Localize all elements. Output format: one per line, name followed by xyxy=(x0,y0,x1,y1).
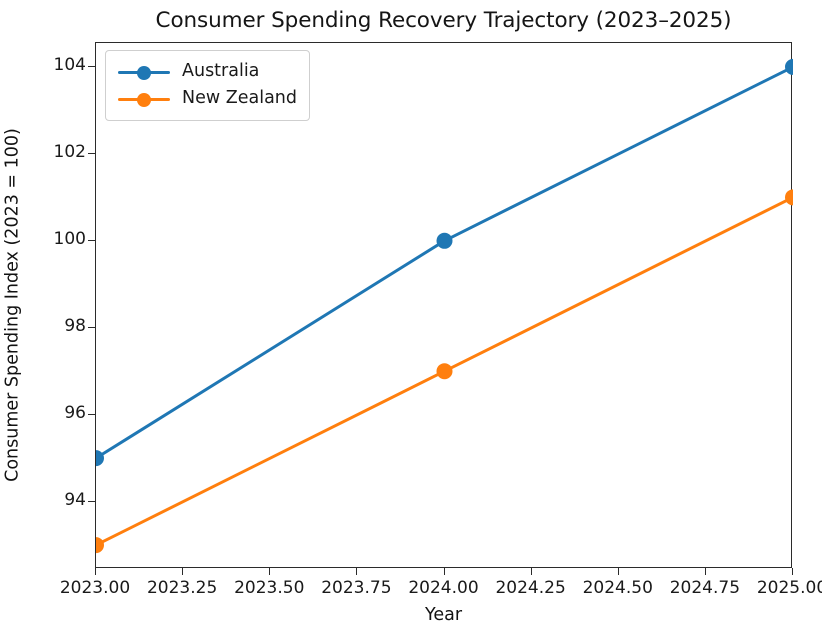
x-axis-tick-mark xyxy=(95,568,96,575)
y-axis-tick-label: 104 xyxy=(2,57,86,74)
data-point-marker xyxy=(785,189,793,205)
x-axis-tick-mark xyxy=(531,568,532,575)
legend-marker-icon xyxy=(137,66,151,80)
x-axis-tick-mark xyxy=(705,568,706,575)
legend-label: Australia xyxy=(182,61,259,82)
x-axis-tick-mark xyxy=(444,568,445,575)
legend-swatch xyxy=(116,62,172,82)
y-axis-tick-mark xyxy=(88,414,95,415)
data-point-marker xyxy=(437,233,453,249)
legend-item[interactable]: Australia xyxy=(116,58,297,85)
y-axis-tick-mark xyxy=(88,66,95,67)
y-axis-tick-mark xyxy=(88,327,95,328)
x-axis-tick-mark xyxy=(792,568,793,575)
legend-swatch xyxy=(116,89,172,109)
x-axis-label: Year xyxy=(95,605,792,626)
y-axis-tick-label: 100 xyxy=(2,231,86,248)
data-point-marker xyxy=(785,59,793,75)
y-axis-label-container: Consumer Spending Index (2023 = 100) xyxy=(0,42,26,568)
x-axis-tick-mark xyxy=(182,568,183,575)
x-axis-tick-label: 2025.00 xyxy=(740,578,822,598)
y-axis-tick-label: 102 xyxy=(2,144,86,161)
chart-figure: Consumer Spending Recovery Trajectory (2… xyxy=(0,0,822,642)
x-axis-tick-mark xyxy=(356,568,357,575)
y-axis-tick-label: 96 xyxy=(2,405,86,422)
series-lines-svg xyxy=(96,43,793,569)
y-axis-tick-mark xyxy=(88,501,95,502)
chart-title: Consumer Spending Recovery Trajectory (2… xyxy=(95,8,792,34)
series-line xyxy=(96,67,793,458)
legend-label: New Zealand xyxy=(182,88,297,109)
y-axis-tick-mark xyxy=(88,240,95,241)
y-axis-tick-label: 98 xyxy=(2,318,86,335)
y-axis-label: Consumer Spending Index (2023 = 100) xyxy=(3,128,24,482)
data-point-marker xyxy=(96,537,104,553)
x-axis-tick-mark xyxy=(269,568,270,575)
legend-marker-icon xyxy=(137,93,151,107)
data-point-marker xyxy=(437,363,453,379)
legend-item[interactable]: New Zealand xyxy=(116,85,297,112)
chart-legend: AustraliaNew Zealand xyxy=(105,50,310,121)
y-axis-tick-label: 94 xyxy=(2,492,86,509)
y-axis-tick-mark xyxy=(88,153,95,154)
x-axis-tick-mark xyxy=(618,568,619,575)
